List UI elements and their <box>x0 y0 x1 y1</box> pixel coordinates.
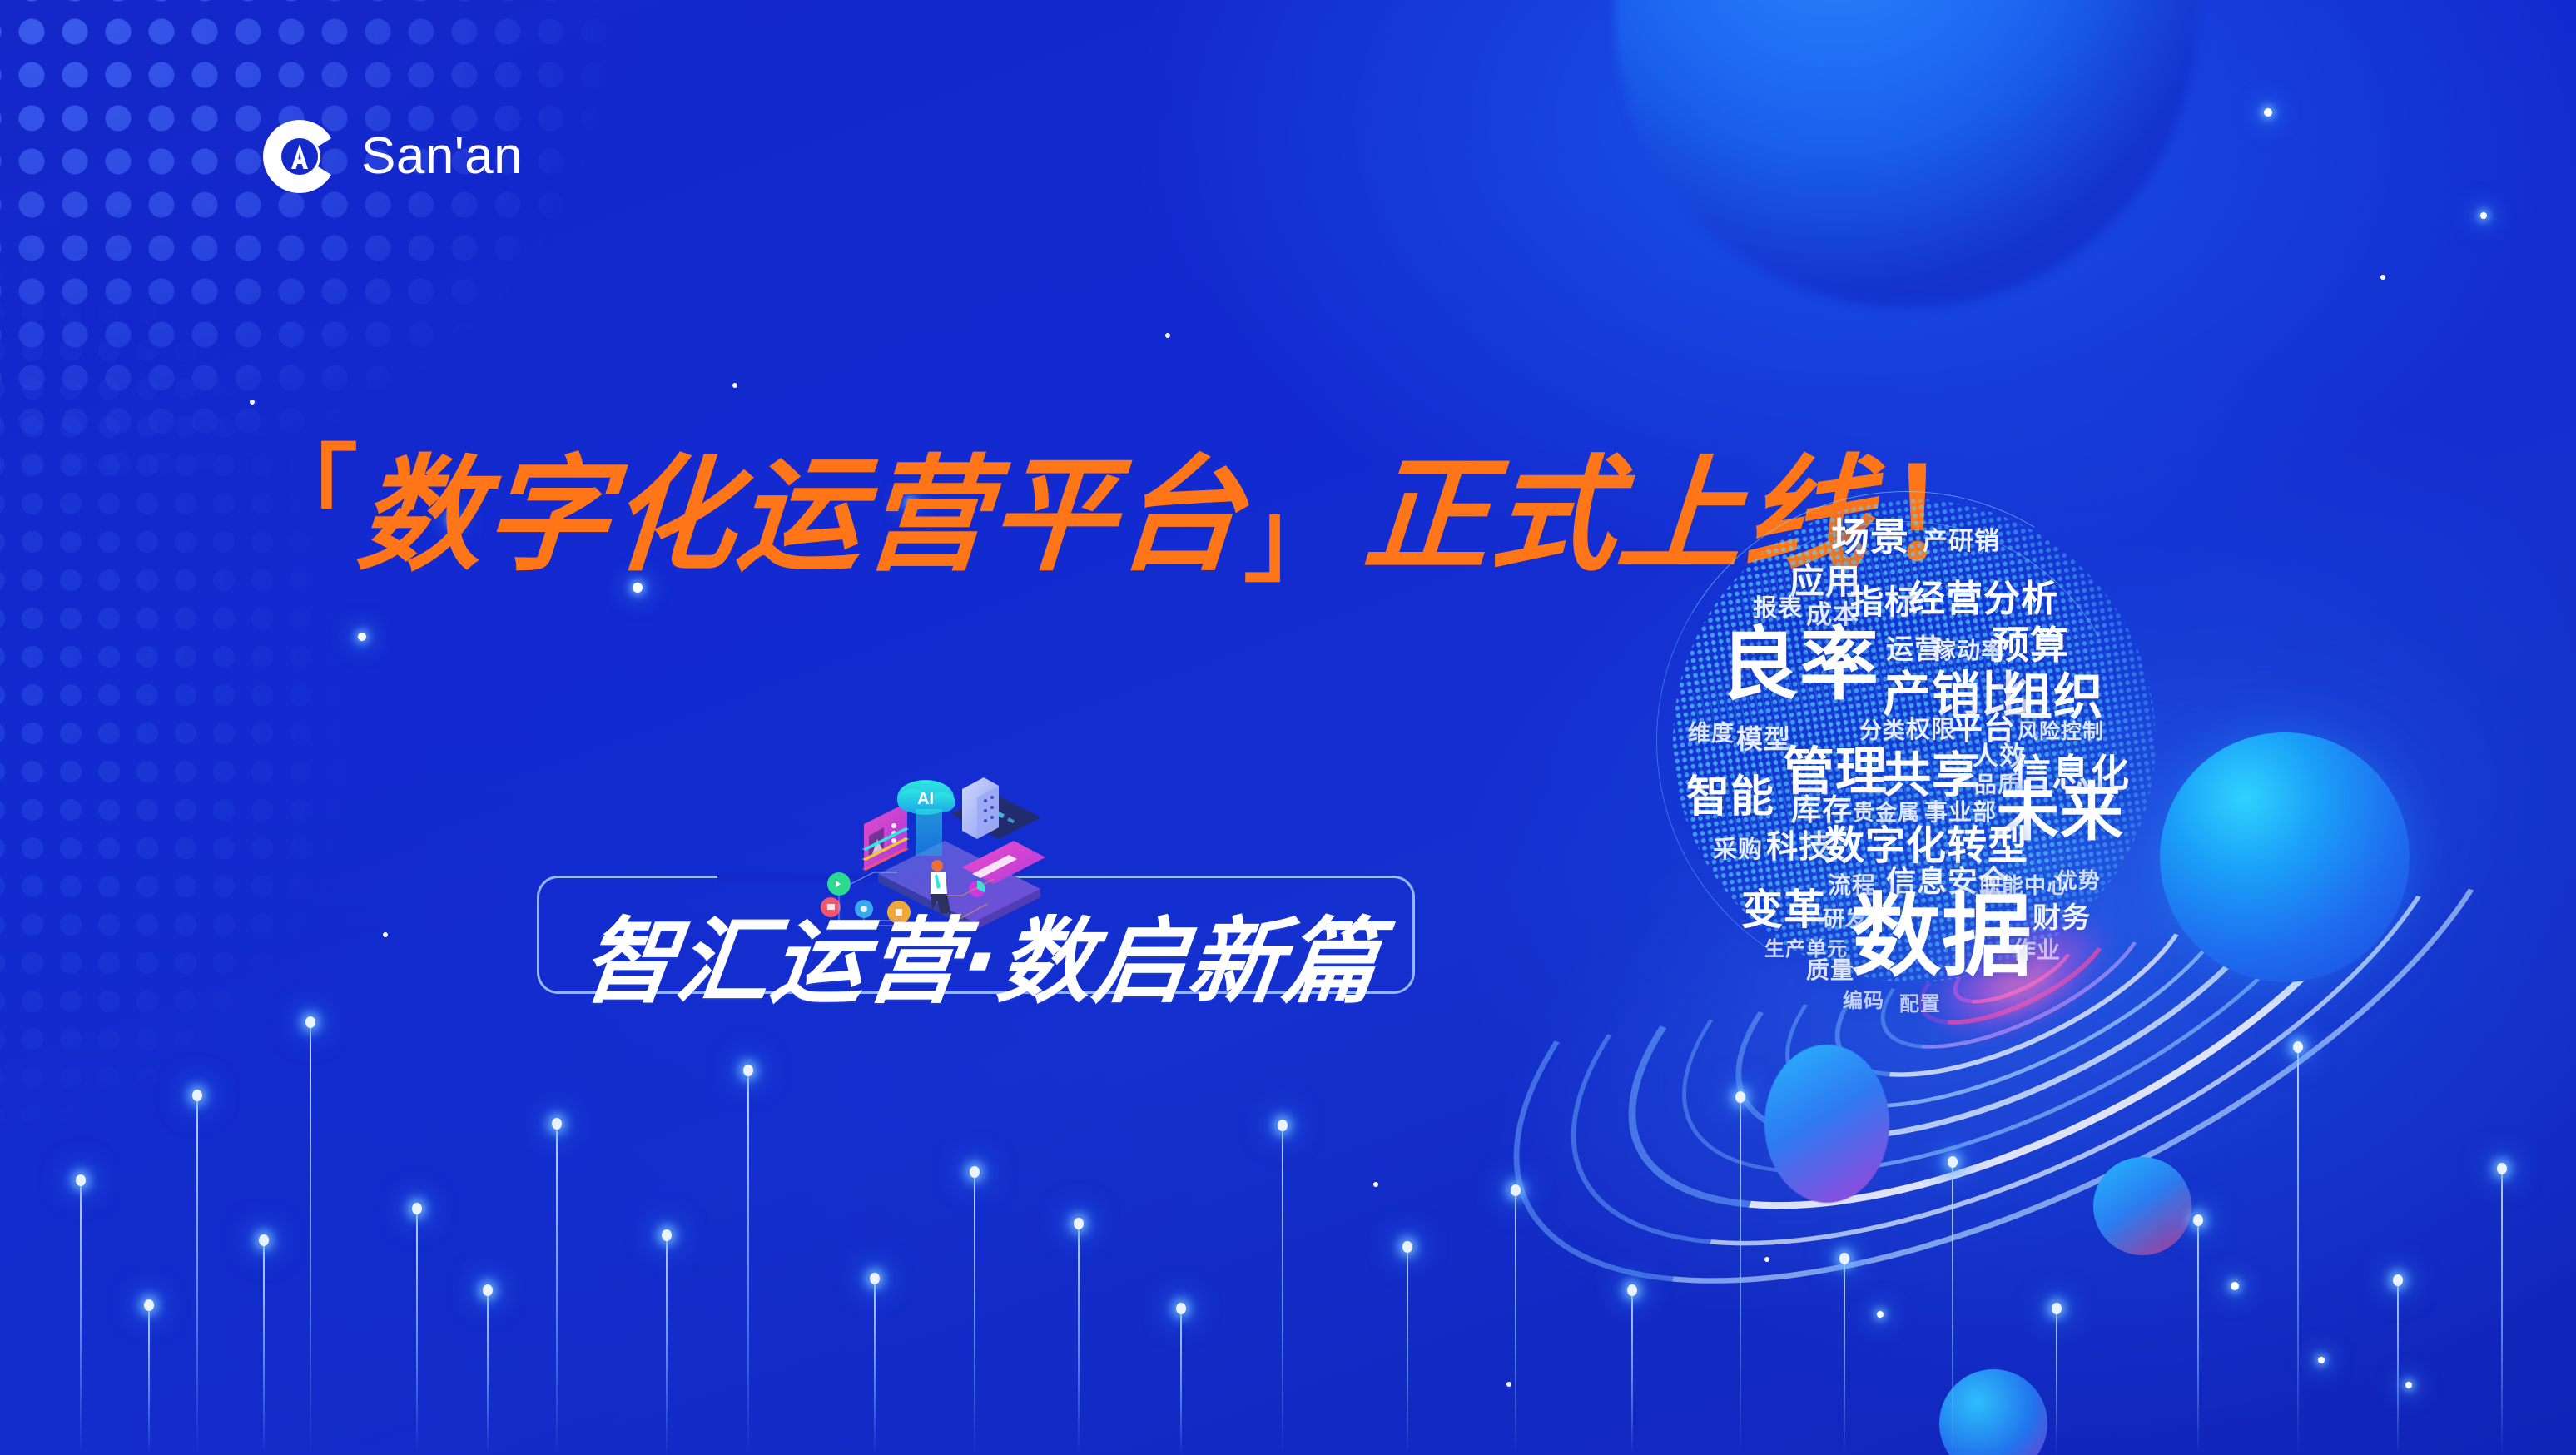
word-cloud-term: 良率 <box>1720 626 1879 705</box>
word-cloud-term: 经营分析 <box>1908 581 2058 618</box>
word-cloud-term: 作业 <box>2013 939 2061 962</box>
light-ray <box>2397 1280 2399 1455</box>
light-ray <box>747 1070 749 1455</box>
word-cloud-term: 共享 <box>1883 751 1981 799</box>
light-ray <box>2501 1169 2503 1455</box>
halftone-dot-pattern-secondary <box>0 216 891 1299</box>
word-cloud-term: 报表 <box>1753 596 1803 620</box>
background-sphere-top <box>1615 0 2197 308</box>
star-particle <box>1506 1382 1511 1387</box>
light-ray <box>556 1124 558 1455</box>
word-cloud-term: 权限 <box>1906 718 1956 742</box>
light-ray-tip <box>1074 1218 1084 1229</box>
word-cloud-term: 优势 <box>2056 871 2101 892</box>
word-cloud-term: 库存 <box>1791 796 1853 826</box>
light-ray <box>1952 1162 1953 1455</box>
light-ray <box>196 1095 198 1455</box>
light-ray-tip <box>1402 1241 1412 1253</box>
light-ray <box>1844 1259 1845 1455</box>
word-cloud-term: 编码 <box>1843 991 1884 1011</box>
light-ray-tip <box>2393 1274 2403 1286</box>
keyword-globe: 场景产研销应用报表成本指标经营分析运营稼动率预算良率产销比组织维度模型分类权限平… <box>1673 499 2156 982</box>
word-cloud-term: 采购 <box>1713 837 1763 862</box>
star-particle <box>2380 275 2385 280</box>
light-ray-tip <box>1839 1253 1849 1264</box>
light-ray-tip <box>1948 1156 1958 1168</box>
light-ray-tip <box>412 1203 422 1214</box>
light-ray <box>416 1209 418 1455</box>
star-particle <box>2318 1357 2325 1363</box>
word-cloud-term: 事业部 <box>1924 801 1997 824</box>
word-cloud-term: 贵金属 <box>1853 802 1920 824</box>
light-ray-tip <box>970 1166 980 1178</box>
light-ray-tip <box>1735 1091 1745 1103</box>
subtitle-text: 智汇运营·数启新篇 <box>577 916 1384 1009</box>
word-cloud-term: 质量 <box>1806 959 1854 982</box>
star-particle <box>383 932 388 937</box>
word-cloud-term: 智能 <box>1686 776 1774 819</box>
light-ray-tip <box>552 1118 562 1130</box>
light-ray-tip <box>483 1284 493 1296</box>
word-cloud-term: 场景 <box>1831 518 1909 556</box>
headline-quoted-text: 数字化运营平台 <box>354 454 1248 579</box>
light-ray <box>148 1305 150 1455</box>
light-ray <box>2056 1309 2057 1455</box>
star-particle <box>2231 1282 2239 1290</box>
word-cloud-term: 平台 <box>1951 713 2016 744</box>
light-ray-tip <box>1511 1184 1521 1196</box>
word-cloud-term: 组织 <box>2003 673 2104 723</box>
light-ray <box>666 1235 668 1455</box>
light-ray <box>974 1172 975 1455</box>
floating-sphere-large <box>2160 732 2410 982</box>
star-particle <box>2480 212 2487 219</box>
bracket-open: 「 <box>258 454 358 534</box>
light-ray-tip <box>259 1234 269 1246</box>
word-cloud-term: 科技 <box>1766 831 1831 862</box>
floating-sphere-gradient <box>1764 1045 1889 1203</box>
light-ray-tip <box>743 1065 753 1076</box>
light-ray-tip <box>2052 1303 2062 1314</box>
star-particle <box>1165 333 1170 338</box>
light-ray-tip <box>662 1229 672 1241</box>
light-ray-tip <box>870 1273 880 1284</box>
star-particle <box>1877 1311 1884 1318</box>
star-particle <box>1373 1182 1378 1187</box>
light-ray <box>874 1279 876 1455</box>
brand-logo[interactable]: San'an <box>260 117 523 196</box>
light-ray-tip <box>144 1299 154 1311</box>
light-ray-tip <box>305 1016 315 1028</box>
word-cloud-term: 数字化转型 <box>1824 826 2028 866</box>
light-ray <box>1515 1190 1516 1455</box>
star-particle <box>358 633 366 641</box>
light-ray <box>263 1240 265 1455</box>
light-ray <box>1180 1309 1182 1455</box>
promo-banner: San'an 「 数字化运营平台 」 正式上线 ！ <box>0 0 2576 1455</box>
floating-sphere-small <box>2093 1157 2191 1255</box>
bracket-close: 」 <box>1243 499 1343 579</box>
light-ray-tip <box>1278 1120 1288 1131</box>
star-particle <box>732 383 737 388</box>
brand-name: San'an <box>361 131 523 182</box>
word-cloud-term: 配置 <box>1899 994 1941 1014</box>
light-ray-tip <box>1627 1284 1637 1296</box>
word-cloud-term: 数据 <box>1851 892 2033 982</box>
light-ray <box>1282 1125 1283 1455</box>
light-ray-tip <box>192 1090 202 1101</box>
light-ray <box>2197 1220 2199 1455</box>
light-ray-tip <box>76 1174 86 1186</box>
word-cloud-term: 风险控制 <box>2018 721 2104 742</box>
word-cloud-term: 管理 <box>1783 746 1888 797</box>
light-ray <box>310 1022 311 1455</box>
word-cloud-term: 预算 <box>1991 626 2069 664</box>
star-particle <box>2264 108 2272 117</box>
star-particle <box>250 400 255 405</box>
light-ray <box>487 1290 489 1455</box>
light-ray <box>2297 1047 2299 1455</box>
light-ray-tip <box>2193 1214 2203 1226</box>
word-cloud-term: 产研销 <box>1923 529 2000 554</box>
word-cloud-term: 维度 <box>1688 723 1735 745</box>
light-ray <box>1407 1247 1408 1455</box>
word-cloud-term: 变革 <box>1741 889 1826 931</box>
light-ray <box>1740 1097 1741 1455</box>
light-ray <box>1631 1290 1633 1455</box>
svg-text:AI: AI <box>917 790 934 808</box>
star-particle <box>2405 1382 2412 1388</box>
word-cloud-term: 分类 <box>1859 720 1906 742</box>
sanan-circle-a-logo-icon <box>260 117 340 196</box>
floating-sphere-bottom <box>1939 1369 2047 1455</box>
star-particle <box>1764 1257 1769 1262</box>
light-ray <box>1078 1224 1080 1455</box>
light-ray-tip <box>1176 1303 1186 1314</box>
light-ray-tip <box>2293 1041 2303 1053</box>
light-ray-tip <box>2497 1163 2507 1174</box>
word-cloud-term: 财务 <box>2033 904 2091 932</box>
light-ray <box>80 1180 82 1455</box>
